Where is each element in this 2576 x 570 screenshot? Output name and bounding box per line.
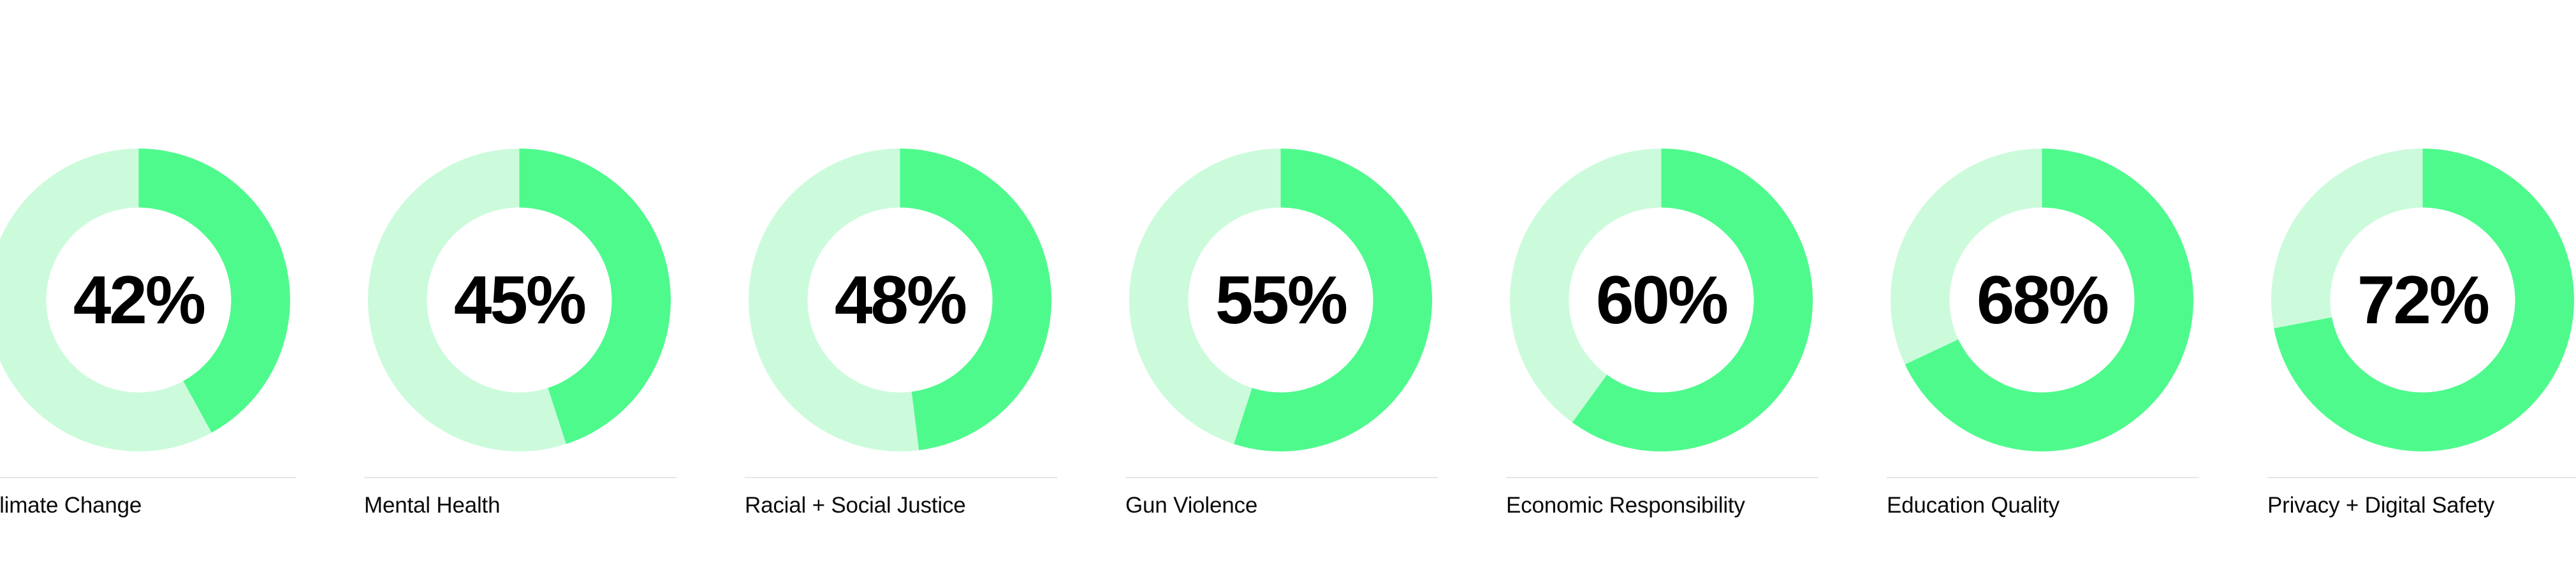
metric-column: 48%Racial + Social Justice <box>736 0 1116 570</box>
donut-chart[interactable]: 55% <box>1129 149 1432 451</box>
donut-value-arc <box>900 149 1051 450</box>
donut-chart[interactable]: 42% <box>0 149 290 451</box>
donut-metrics-screen: 42%Climate Change45%Mental Health48%Raci… <box>0 0 2576 570</box>
divider-rule <box>2267 477 2576 478</box>
divider-rule <box>364 477 677 478</box>
donut-ring <box>1129 149 1432 451</box>
divider-rule <box>1506 477 1819 478</box>
metric-column: 42%Climate Change <box>0 0 355 570</box>
donut-track-arc <box>749 149 919 451</box>
divider-rule <box>0 477 296 478</box>
metric-label: Racial + Social Justice <box>745 491 1025 520</box>
metric-label-block: Gun Violence <box>1125 477 1438 520</box>
donut-chart[interactable]: 45% <box>368 149 671 451</box>
metric-label-block: Mental Health <box>364 477 677 520</box>
metric-column: 68%Education Quality <box>1878 0 2258 570</box>
metric-label-block: Climate Change <box>0 477 296 520</box>
metric-column: 72%Privacy + Digital Safety <box>2258 0 2576 570</box>
metric-column: 60%Economic Responsibility <box>1497 0 1878 570</box>
metric-label: Gun Violence <box>1125 491 1406 520</box>
donut-chart[interactable]: 48% <box>749 149 1051 451</box>
metric-label: Climate Change <box>0 491 264 520</box>
metric-label-block: Racial + Social Justice <box>745 477 1057 520</box>
divider-rule <box>1887 477 2199 478</box>
donut-track-arc <box>1510 149 1662 423</box>
divider-rule <box>745 477 1057 478</box>
metric-label: Mental Health <box>364 491 645 520</box>
donut-ring <box>1510 149 1813 451</box>
metric-column: 45%Mental Health <box>355 0 736 570</box>
metric-label: Privacy + Digital Safety <box>2267 491 2548 520</box>
donut-ring <box>0 149 290 451</box>
donut-chart[interactable]: 72% <box>2271 149 2574 451</box>
divider-rule <box>1125 477 1438 478</box>
metric-label-block: Economic Responsibility <box>1506 477 1819 520</box>
donut-chart[interactable]: 60% <box>1510 149 1813 451</box>
metric-label: Education Quality <box>1887 491 2167 520</box>
donut-chart[interactable]: 68% <box>1891 149 2193 451</box>
metric-label-block: Education Quality <box>1887 477 2199 520</box>
metric-label: Economic Responsibility <box>1506 491 1787 520</box>
donut-ring <box>1891 149 2193 451</box>
donut-ring <box>749 149 1051 451</box>
donut-track-arc <box>1891 149 2042 365</box>
donut-ring <box>368 149 671 451</box>
donut-ring <box>2271 149 2574 451</box>
metric-column: 55%Gun Violence <box>1116 0 1497 570</box>
metric-label-block: Privacy + Digital Safety <box>2267 477 2576 520</box>
donut-track-arc <box>2271 149 2423 328</box>
donut-chart-row: 42%Climate Change45%Mental Health48%Raci… <box>0 0 2576 570</box>
